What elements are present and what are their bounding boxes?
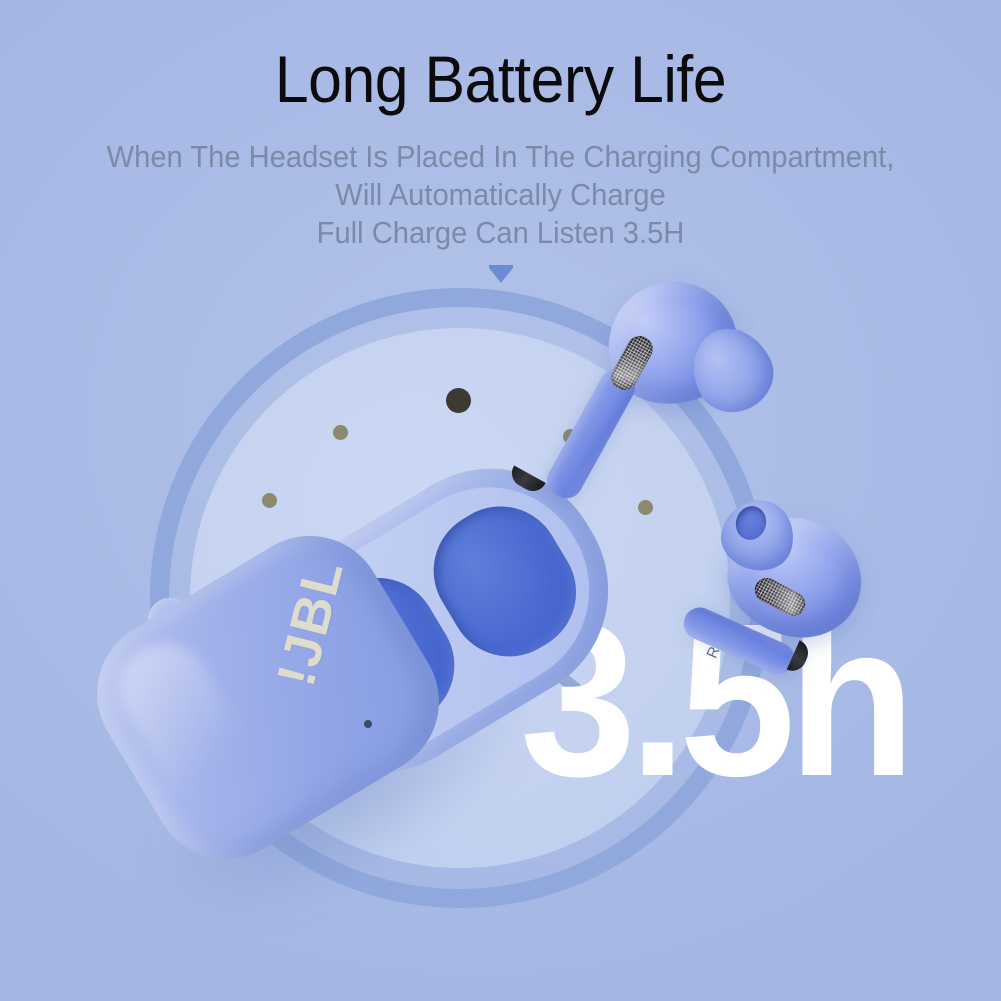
case-highlight (103, 627, 273, 828)
charging-case: !JBL (105, 495, 625, 895)
charging-led-indicator (364, 720, 372, 728)
product-feature-banner: 3.5h !JBL R Long Ba (0, 0, 1001, 1001)
page-title: Long Battery Life (40, 46, 961, 112)
triangle-down-icon (489, 268, 513, 283)
subtitle-block: When The Headset Is Placed In The Chargi… (0, 138, 1001, 252)
subtitle-line-2: Will Automatically Charge (30, 176, 971, 214)
earbud-right: R (660, 492, 910, 722)
subtitle-line-1: When The Headset Is Placed In The Chargi… (30, 138, 971, 176)
clock-marker-10 (333, 425, 348, 440)
earbud-left (545, 272, 795, 522)
clock-marker-12 (446, 388, 471, 413)
earbud-right-contact (787, 640, 813, 675)
subtitle-line-3: Full Charge Can Listen 3.5H (30, 214, 971, 252)
